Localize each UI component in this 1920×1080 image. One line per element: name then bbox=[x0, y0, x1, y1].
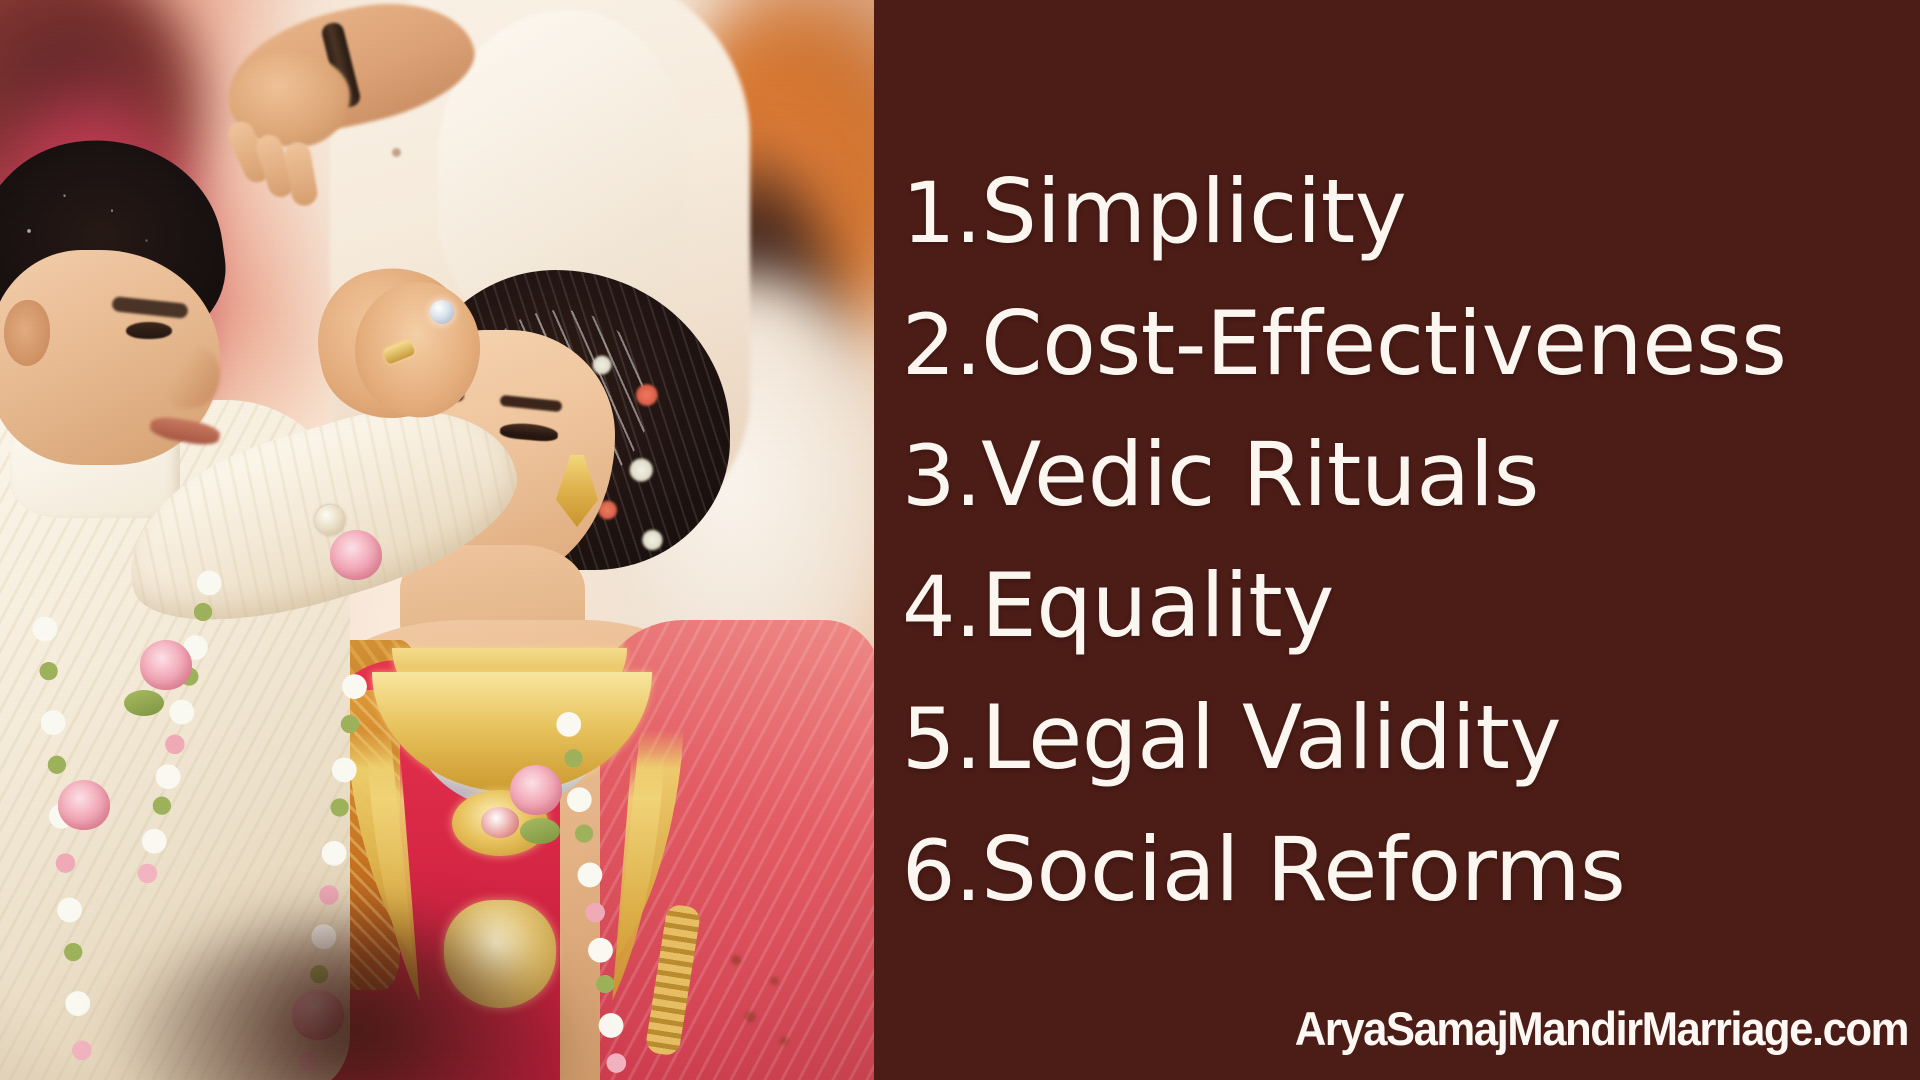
benefit-number-5: 5. bbox=[902, 697, 981, 781]
garland-leaf bbox=[124, 690, 164, 716]
benefit-label-1: Simplicity bbox=[981, 168, 1406, 256]
benefit-item-5: 5. Legal Validity bbox=[902, 694, 1561, 782]
benefit-item-4: 4. Equality bbox=[902, 562, 1334, 650]
benefit-number-6: 6. bbox=[902, 829, 981, 913]
benefits-panel: 1. Simplicity 2. Cost-Effectiveness 3. V… bbox=[874, 0, 1920, 1080]
mehendi-hand bbox=[700, 930, 820, 1080]
benefit-item-3: 3. Vedic Rituals bbox=[902, 431, 1539, 519]
pink-rose bbox=[58, 780, 110, 830]
benefit-number-2: 2. bbox=[902, 303, 981, 387]
garland-leaf bbox=[520, 818, 560, 844]
wedding-photo bbox=[0, 0, 874, 1080]
benefit-label-5: Legal Validity bbox=[981, 694, 1561, 782]
benefit-item-1: 1. Simplicity bbox=[902, 168, 1406, 256]
benefit-item-2: 2. Cost-Effectiveness bbox=[902, 300, 1786, 388]
website-url[interactable]: AryaSamajMandirMarriage.com bbox=[946, 1001, 1908, 1056]
benefit-label-6: Social Reforms bbox=[981, 826, 1625, 914]
benefit-item-6: 6. Social Reforms bbox=[902, 826, 1625, 914]
benefit-label-4: Equality bbox=[981, 562, 1334, 650]
pink-rose bbox=[140, 640, 192, 690]
benefit-number-3: 3. bbox=[902, 434, 981, 518]
kurta-button bbox=[392, 148, 401, 157]
benefit-label-3: Vedic Rituals bbox=[981, 431, 1539, 519]
pink-rose bbox=[510, 765, 562, 815]
pink-rose bbox=[330, 530, 382, 580]
benefit-number-1: 1. bbox=[902, 171, 981, 255]
benefit-label-2: Cost-Effectiveness bbox=[981, 300, 1786, 388]
infographic-canvas: 1. Simplicity 2. Cost-Effectiveness 3. V… bbox=[0, 0, 1920, 1080]
groom-eye bbox=[126, 322, 172, 339]
diamond-ring bbox=[430, 300, 454, 324]
benefit-number-4: 4. bbox=[902, 565, 981, 649]
groom-ear bbox=[4, 300, 50, 366]
sherwani-button bbox=[315, 505, 345, 535]
